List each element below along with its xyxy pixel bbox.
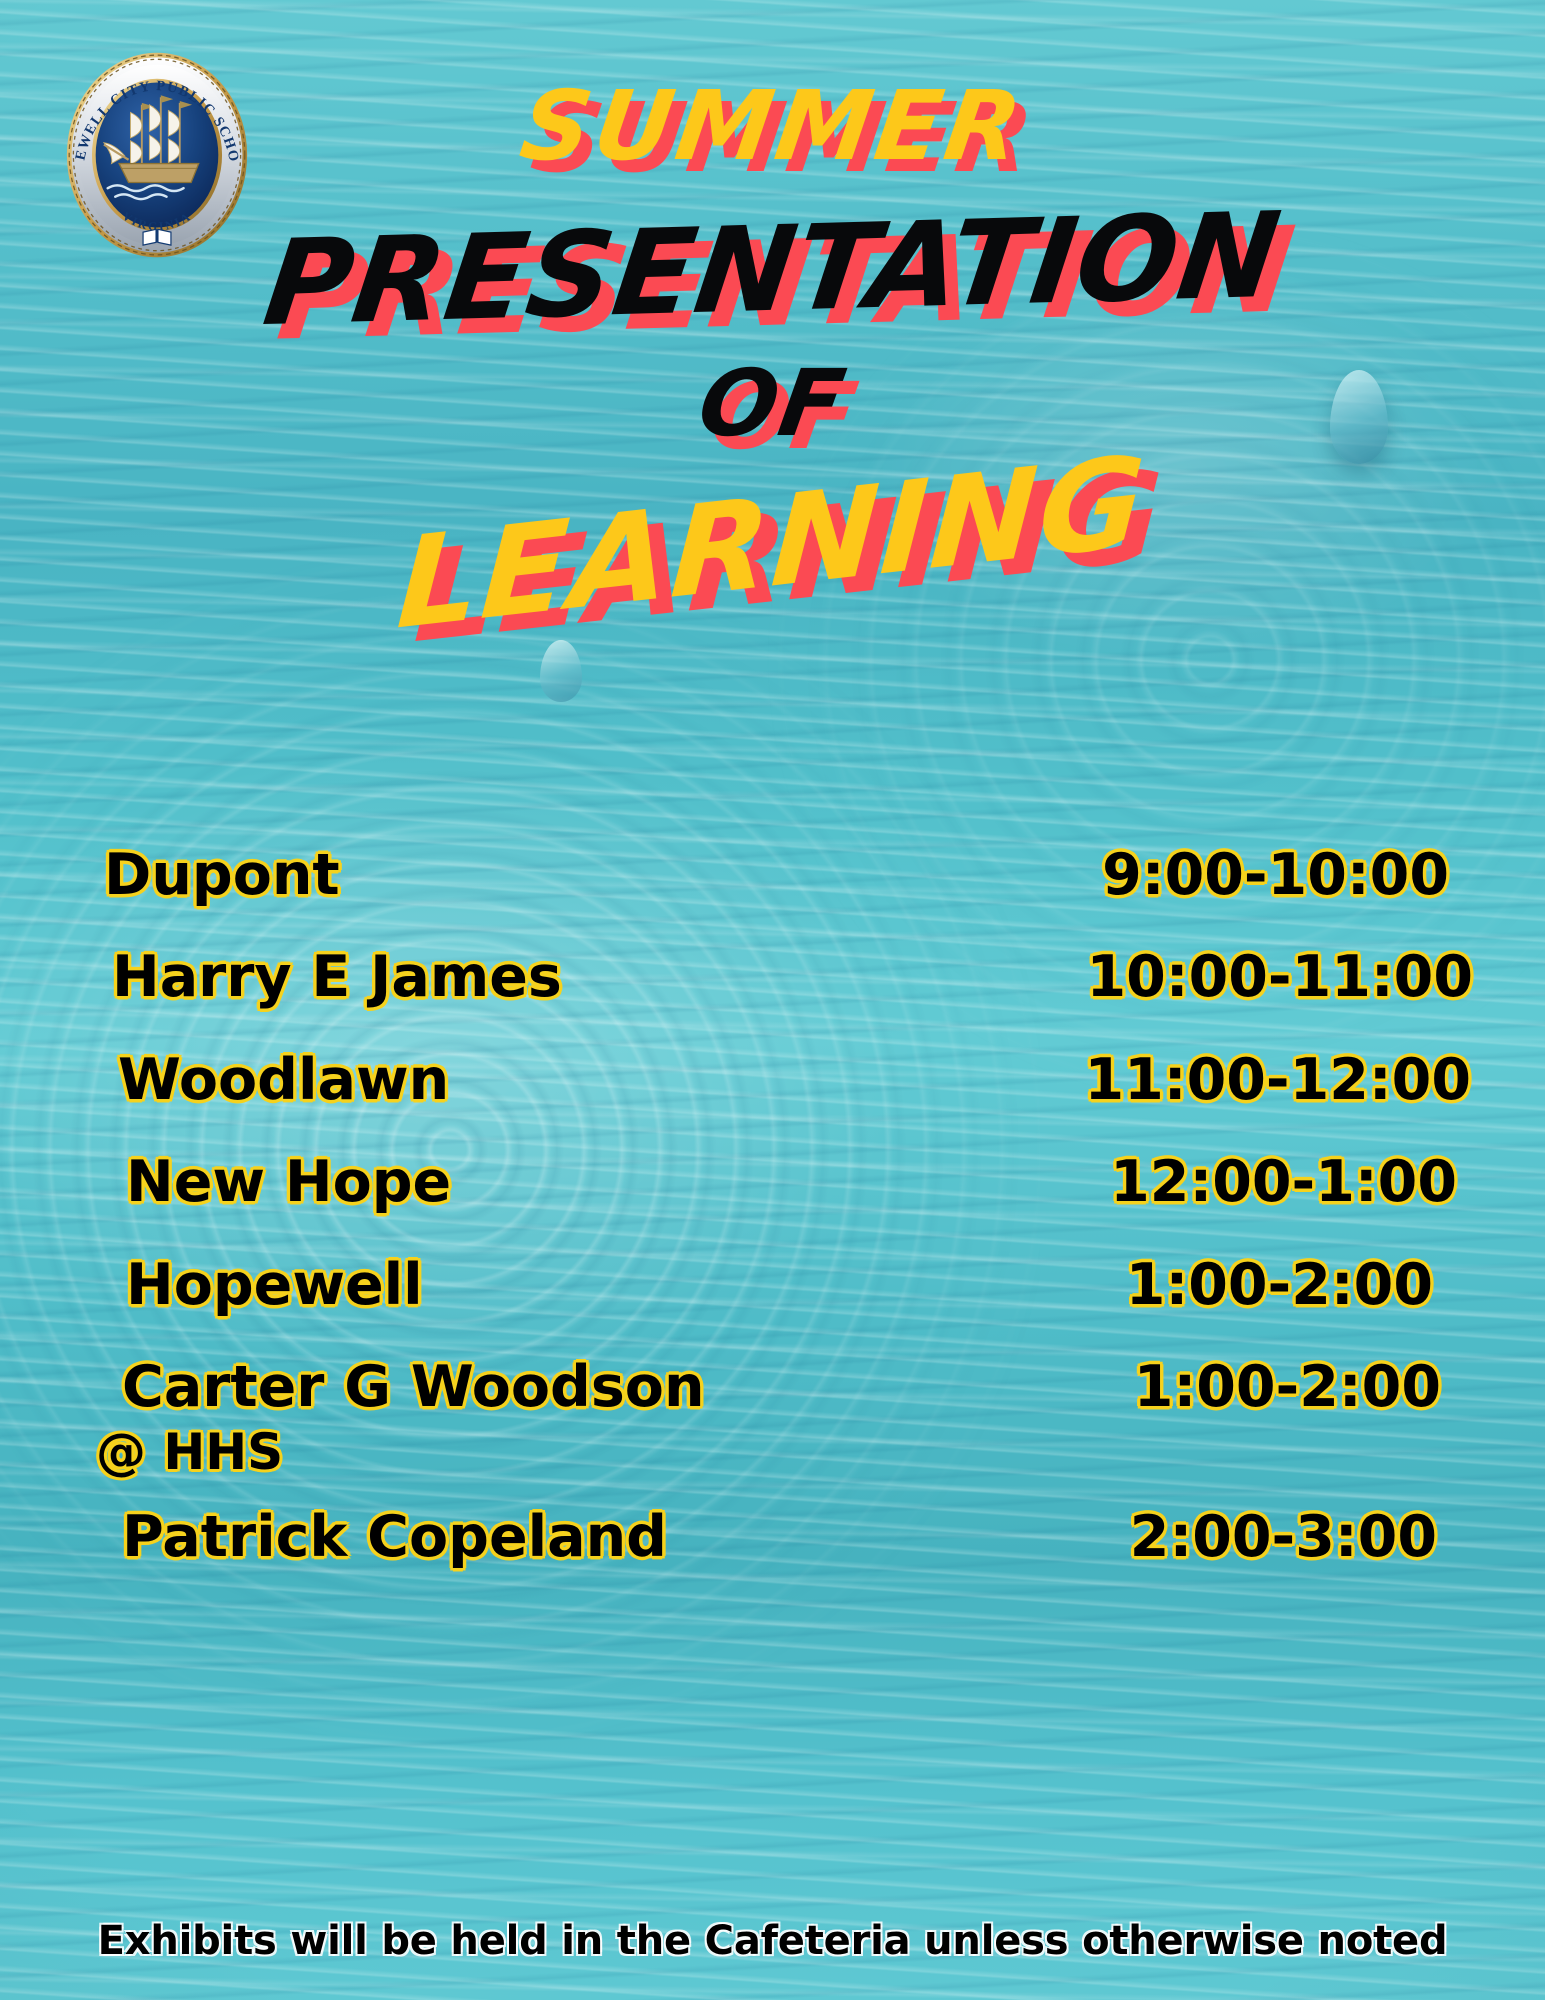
headline-summer: SUMMER SUMMER — [0, 78, 1545, 174]
schedule-row: Woodlawn 11:00-12:00 — [96, 1050, 1501, 1110]
headline-summer-word: SUMMER SUMMER — [515, 78, 1030, 174]
schedule-school-name: New Hope — [126, 1152, 451, 1212]
schedule-location-note: @ HHS — [96, 1423, 1501, 1481]
schedule-time-slot: 2:00-3:00 — [1037, 1507, 1437, 1567]
schedule-time-slot: 12:00-1:00 — [1057, 1152, 1457, 1212]
schedule-row: Hopewell 1:00-2:00 — [96, 1255, 1501, 1315]
footer-note: Exhibits will be held in the Cafeteria u… — [0, 1918, 1545, 1964]
schedule-school-name: Carter G Woodson — [122, 1357, 705, 1417]
schedule-school-name: Harry E James — [112, 947, 562, 1007]
schedule-time-slot: 1:00-2:00 — [1033, 1255, 1433, 1315]
schedule-school-name: Hopewell — [126, 1255, 423, 1315]
schedule-row: Carter G Woodson 1:00-2:00 — [96, 1357, 1501, 1417]
headline-of-text: OF — [692, 350, 854, 457]
schedule-row: Harry E James 10:00-11:00 — [96, 947, 1501, 1007]
headline-presentation-word: PRESENTATION PRESENTATION — [258, 196, 1287, 342]
schedule-school-name: Woodlawn — [118, 1050, 449, 1110]
schedule-list: Dupont 9:00-10:00 Harry E James 10:00-11… — [0, 845, 1545, 1610]
headline-presentation: PRESENTATION PRESENTATION — [0, 210, 1545, 328]
schedule-row: New Hope 12:00-1:00 — [96, 1152, 1501, 1212]
schedule-time-slot: 10:00-11:00 — [1073, 947, 1473, 1007]
schedule-time-slot: 1:00-2:00 — [1041, 1357, 1441, 1417]
headline-summer-text: SUMMER — [514, 70, 1031, 182]
headline-of: OF OF — [0, 358, 1545, 450]
schedule-school-name: Patrick Copeland — [122, 1507, 667, 1567]
schedule-school-name: Dupont — [104, 845, 340, 905]
schedule-row: Patrick Copeland 2:00-3:00 — [96, 1507, 1501, 1567]
headline-learning: LEARNING LEARNING — [0, 480, 1545, 606]
headline-presentation-text: PRESENTATION — [257, 186, 1288, 352]
poster: HOPEWELL CITY PUBLIC SCHOOLS VIRGINIA — [0, 0, 1545, 2000]
schedule-time-slot: 11:00-12:00 — [1071, 1050, 1471, 1110]
headline-of-word: OF OF — [693, 358, 853, 450]
schedule-time-slot: 9:00-10:00 — [1049, 845, 1449, 905]
schedule-row: Dupont 9:00-10:00 — [96, 845, 1501, 905]
